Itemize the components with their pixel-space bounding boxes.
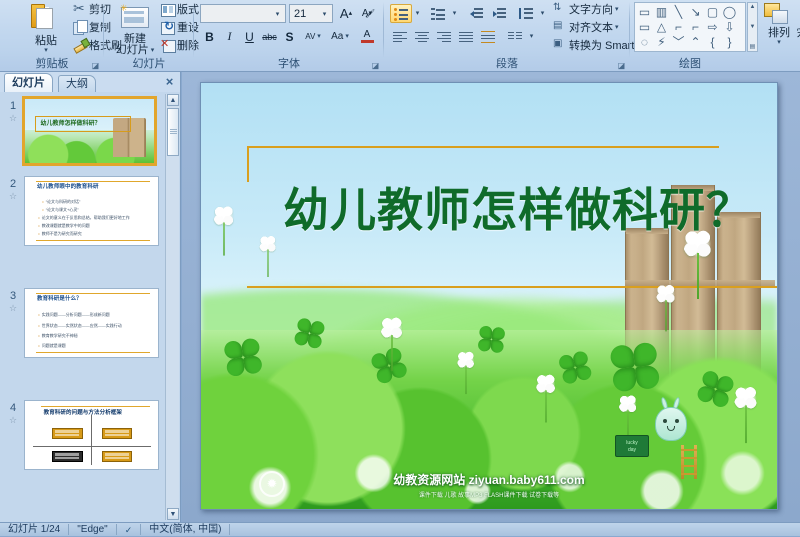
arrange-icon (764, 3, 794, 25)
shape-item-16[interactable]: { (704, 34, 721, 49)
clover-flower (213, 205, 235, 227)
bullets-chevron-down-icon: ▾ (416, 10, 420, 17)
thumb-title-text: 教育科研是什么？ (37, 294, 82, 302)
mascot-character (651, 395, 691, 447)
new-slide-icon: ✳ (120, 3, 150, 33)
align-text-chevron-down-icon[interactable]: ▾ (615, 24, 619, 31)
columns-button[interactable] (504, 27, 526, 46)
ribbon-group-clipboard: 粘贴 ▾ 剪切 复制 格式刷 ◪ 剪贴板 (0, 0, 104, 72)
flower-stem (666, 300, 667, 331)
thumb-background: 幼儿教师怎样做科研？ (25, 99, 154, 163)
thumb-bullet: “论文与课文+心灵” (42, 207, 78, 213)
animation-star-icon: ☆ (4, 302, 22, 314)
lucky-day-sign: luckyday (615, 435, 649, 457)
columns-icon (508, 31, 523, 43)
shape-item-7[interactable]: △ (653, 19, 670, 34)
align-text-button[interactable]: ▤ 对齐文本 ▾ (550, 19, 622, 35)
group-label-slides: 幻灯片 (104, 55, 194, 71)
decrease-indent-button[interactable] (466, 4, 488, 23)
shapes-scroll-down-icon[interactable]: ▼ (750, 24, 756, 30)
animation-star-icon: ☆ (4, 190, 22, 202)
quadrant-box-1 (52, 428, 83, 439)
status-divider (229, 524, 230, 535)
powerpoint-window: 粘贴 ▾ 剪切 复制 格式刷 ◪ 剪贴板 ✳ 新建 (0, 0, 800, 536)
slide-title-text[interactable]: 幼儿教师怎样做科研？ (283, 184, 715, 236)
ladder-rung (681, 449, 697, 451)
shape-item-1[interactable]: ▥ (653, 4, 670, 19)
grow-font-button[interactable]: A▴ (336, 3, 356, 23)
clover-flower (457, 351, 476, 370)
quick-styles-label: 快速样式 (796, 28, 800, 39)
animation-star-icon: ☆ (4, 414, 22, 426)
tab-outline[interactable]: 大纲 (58, 75, 96, 92)
character-spacing-button[interactable]: AV ▾ (300, 27, 326, 46)
align-left-button[interactable] (390, 27, 411, 46)
shape-item-4[interactable]: ▢ (704, 4, 721, 19)
slide-editing-area[interactable]: 幼儿教师怎样做科研？ (182, 72, 800, 522)
columns-chevron-down-icon: ▾ (530, 33, 534, 40)
shapes-gallery-scrollbar[interactable]: ▲ ▼ ▤ (747, 2, 758, 52)
thumbnail-number-value: 3 (10, 290, 16, 302)
paste-icon (31, 4, 61, 34)
bullets-dropdown[interactable]: ▾ (412, 4, 423, 23)
tab-slides[interactable]: 幻灯片 (4, 73, 53, 92)
paste-label: 粘贴 (35, 36, 57, 47)
text-direction-icon: ⇅ (553, 2, 567, 16)
line-spacing-dropdown[interactable]: ▾ (537, 4, 548, 23)
strikethrough-button[interactable]: abc (260, 27, 279, 46)
quadrant-box-2 (102, 428, 133, 439)
shape-item-9[interactable]: ⌐ (687, 19, 704, 34)
flower-stem (392, 335, 394, 371)
numbering-icon (431, 7, 446, 20)
thumb-title-text: 幼儿教师眼中的教育科研 (37, 182, 99, 190)
align-right-icon (437, 31, 452, 43)
ribbon-group-font: ▾ 21 ▾ A▴ A▾ B I U abc (194, 0, 384, 72)
clover-flower (380, 316, 403, 339)
copy-icon (73, 20, 87, 34)
flower-stem (697, 253, 699, 299)
arrange-chevron-down-icon[interactable]: ▾ (777, 39, 781, 46)
quadrant-box-3 (52, 451, 83, 462)
shape-item-11[interactable]: ⇩ (721, 19, 738, 34)
font-name-combobox[interactable]: ▾ (200, 4, 286, 23)
shapes-scroll-more-icon[interactable]: ▤ (750, 43, 756, 50)
change-case-chevron-down-icon[interactable]: ▾ (345, 33, 349, 40)
text-direction-label: 文字方向 (569, 1, 613, 17)
shape-item-12[interactable]: ◌ (636, 34, 653, 49)
thumbnail-number-value: 1 (10, 100, 16, 112)
paintbrush-icon (73, 38, 87, 52)
shadow-label: S (285, 30, 293, 44)
text-direction-button[interactable]: ⇅ 文字方向 ▾ (550, 1, 622, 17)
thumbnail-number-value: 2 (10, 178, 16, 190)
title-placeholder[interactable]: 幼儿教师怎样做科研？ (247, 146, 719, 338)
font-size-value: 21 (294, 8, 319, 20)
clover-leaf (223, 337, 265, 379)
thumbnail-number-value: 4 (10, 402, 16, 414)
change-case-button[interactable]: Aa ▾ (327, 27, 353, 46)
animation-star-icon: ☆ (4, 112, 22, 124)
numbering-button[interactable] (427, 4, 449, 23)
quadrant-box-4 (102, 451, 133, 462)
shape-item-13[interactable]: ⚡ (653, 34, 670, 49)
spell-check-icon: ✓ (125, 523, 133, 537)
line-spacing-button[interactable] (515, 4, 537, 23)
group-label-paragraph: 段落 (384, 55, 630, 71)
slide-thumbnail-2[interactable]: 2 ☆ 幼儿教师眼中的教育科研 “论文与科研的对话” “论文与课文+心灵” 论文… (0, 174, 167, 248)
clover-flower (656, 284, 676, 304)
clover-flower (683, 229, 713, 259)
shape-item-2[interactable]: ╲ (670, 4, 687, 19)
ladder-rung (681, 465, 697, 467)
clover-leaf (609, 341, 662, 394)
layout-icon (161, 2, 175, 16)
theme-name[interactable]: "Edge" (69, 523, 115, 537)
slide-thumbnail-1[interactable]: 1 ☆ 幼儿教师怎样做科研？ (0, 96, 167, 170)
clover-flower (618, 394, 637, 413)
shape-item-6[interactable]: ▭ (636, 19, 653, 34)
bold-label: B (205, 30, 214, 44)
spell-check-status[interactable]: ✓ (117, 523, 141, 537)
thumbnail-canvas: 教育科研是什么？ 实践问题——分析问题——形成新问题 世界状态——实然状态——应… (24, 288, 159, 358)
thumbnail-number: 2 ☆ (4, 178, 22, 202)
change-case-label: Aa (331, 31, 343, 42)
align-left-icon (393, 31, 408, 43)
mascot-body (655, 407, 687, 441)
line-spacing-chevron-down-icon: ▾ (541, 10, 545, 17)
paste-chevron-down-icon[interactable]: ▾ (44, 47, 48, 54)
underline-label: U (245, 30, 254, 44)
thumbnail-scrollbar[interactable]: ▲ ▼ (165, 94, 179, 520)
smartart-icon: ▣ (553, 38, 567, 52)
ribbon-group-drawing: ▭▥╲↘▢◯▭△⌐⌐⇨⇩◌⚡﹀⌃{} ▲ ▼ ▤ 排列 ▾ 快速样式 绘图 (630, 0, 800, 72)
char-spacing-label: AV (305, 32, 315, 41)
justify-icon (459, 31, 474, 43)
clover-flower (734, 386, 759, 411)
text-direction-chevron-down-icon[interactable]: ▾ (615, 6, 619, 13)
thumbnail-canvas: 幼儿教师怎样做科研？ (22, 96, 157, 166)
thumb-content: 教育科研的问题与方法分析框架 (25, 401, 158, 469)
watermark: 幼教资源网站 ziyuan.baby611.com 课件下载 儿歌 故事MP3 … (201, 471, 777, 499)
quadrant-diagram (33, 415, 151, 465)
underline-button[interactable]: U (240, 27, 259, 46)
shape-item-3[interactable]: ↘ (687, 4, 704, 19)
watermark-secondary: 课件下载 儿歌 故事MP3 FLASH课件下载 试卷下载等 (201, 490, 777, 499)
align-text-label: 对齐文本 (569, 19, 613, 35)
italic-label: I (228, 29, 232, 44)
shape-item-17[interactable]: } (721, 34, 738, 49)
font-color-button[interactable]: A (354, 27, 380, 46)
group-label-font: 字体 (194, 55, 384, 71)
thumb-rule-bottom (36, 240, 150, 241)
thumb-bullet: 教改课题就是教学中的问题 (38, 223, 89, 229)
clover-leaf (477, 325, 506, 354)
thumb-rule-top (41, 406, 150, 407)
clover-flower (259, 235, 277, 253)
bullets-button[interactable] (390, 4, 412, 23)
italic-button[interactable]: I (220, 27, 239, 46)
shape-item-8[interactable]: ⌐ (670, 19, 687, 34)
shapes-gallery[interactable]: ▭▥╲↘▢◯▭△⌐⌐⇨⇩◌⚡﹀⌃{} (634, 2, 746, 52)
distributed-icon (481, 31, 496, 43)
line-spacing-icon (519, 7, 534, 20)
font-size-chevron-down-icon[interactable]: ▾ (319, 10, 330, 18)
numbering-dropdown[interactable]: ▾ (449, 4, 460, 23)
sign-text: luckyday (626, 440, 637, 453)
close-icon[interactable]: × (162, 74, 177, 89)
quadrant-horizontal-axis (33, 446, 151, 447)
thumb-bullet: 问题就是课题 (38, 343, 65, 349)
font-color-swatch (361, 40, 374, 43)
font-color-label: A (364, 30, 371, 40)
thumb-bullet: 实践问题——分析问题——形成新问题 (38, 312, 109, 318)
shape-item-0[interactable]: ▭ (636, 4, 653, 19)
align-right-button[interactable] (434, 27, 455, 46)
quick-styles-button[interactable]: 快速样式 (796, 2, 800, 54)
reset-icon (161, 20, 175, 34)
thumb-content: 教育科研是什么？ 实践问题——分析问题——形成新问题 世界状态——实然状态——应… (25, 289, 158, 357)
flower-stem (224, 222, 225, 255)
mascot-eye (675, 419, 679, 423)
distributed-button[interactable] (478, 27, 499, 46)
bold-button[interactable]: B (200, 27, 219, 46)
numbering-chevron-down-icon: ▾ (453, 10, 457, 17)
clear-formatting-icon: 🖌 (365, 9, 375, 18)
group-label-drawing: 绘图 (634, 55, 746, 71)
mascot-eye (663, 419, 667, 423)
shape-item-14[interactable]: ﹀ (670, 34, 687, 49)
thumb-content: 幼儿教师眼中的教育科研 “论文与科研的对话” “论文与课文+心灵” 论文的意义在… (25, 177, 158, 245)
thumbnail-number: 3 ☆ (4, 290, 22, 314)
flower-stem (546, 390, 547, 422)
columns-dropdown[interactable]: ▾ (526, 27, 537, 46)
thumb-bullet: “论文与科研的对话” (42, 199, 80, 205)
new-slide-button[interactable]: ✳ 新建 幻灯片 ▾ (112, 2, 158, 54)
slide-thumbnail-3[interactable]: 3 ☆ 教育科研是什么？ 实践问题——分析问题——形成新问题 世界状态——实然状… (0, 286, 167, 360)
ladder-rung (681, 457, 697, 459)
thumbnail-canvas: 幼儿教师眼中的教育科研 “论文与科研的对话” “论文与课文+心灵” 论文的意义在… (24, 176, 159, 246)
slides-outline-pane: 幻灯片 大纲 × 1 ☆ 幼儿教师怎样做科研？ (0, 72, 181, 522)
increase-indent-button[interactable] (489, 4, 511, 23)
paste-button[interactable]: 粘贴 ▾ (24, 3, 68, 53)
shape-item-10[interactable]: ⇨ (704, 19, 721, 34)
scrollbar-thumb[interactable] (167, 108, 179, 156)
thumb-bullet: 教师不是为研究而研究 (38, 231, 81, 237)
clover-flower (536, 374, 557, 395)
quadrant-vertical-axis (91, 415, 92, 465)
arrange-button[interactable]: 排列 ▾ (762, 2, 796, 54)
ribbon: 粘贴 ▾ 剪切 复制 格式刷 ◪ 剪贴板 ✳ 新建 (0, 0, 800, 72)
align-text-icon: ▤ (553, 20, 567, 34)
thumbnail-number: 1 ☆ (4, 100, 22, 124)
tab-slides-label: 幻灯片 (12, 77, 45, 89)
delete-icon (161, 38, 175, 52)
thumb-rule-bottom (36, 352, 150, 353)
justify-button[interactable] (456, 27, 477, 46)
flower-stem (746, 405, 748, 443)
flower-stem (268, 249, 269, 277)
ribbon-group-slides: ✳ 新建 幻灯片 ▾ 版式 ▾ 重设 删除 幻灯片 (104, 0, 194, 72)
current-slide[interactable]: 幼儿教师怎样做科研？ (200, 82, 778, 510)
language-indicator[interactable]: 中文(简体, 中国) (141, 523, 229, 537)
scissors-icon (73, 2, 87, 16)
shapes-scroll-up-icon[interactable]: ▲ (750, 4, 756, 10)
status-bar: 幻灯片 1/24 "Edge" ✓ 中文(简体, 中国) (0, 522, 800, 536)
pane-tabs: 幻灯片 大纲 × (0, 72, 181, 92)
thumbnail-number: 4 ☆ (4, 402, 22, 426)
bullets-icon (394, 7, 409, 20)
thumbnail-canvas: 教育科研的问题与方法分析框架 (24, 400, 159, 470)
decrease-indent-icon (470, 7, 485, 20)
shape-item-5[interactable]: ◯ (721, 4, 738, 19)
font-size-combobox[interactable]: 21 ▾ (289, 4, 333, 23)
thumb-title-text: 幼儿教师怎样做科研？ (40, 118, 100, 127)
new-slide-chevron-down-icon[interactable]: ▾ (151, 47, 155, 54)
watermark-primary: 幼教资源网站 ziyuan.baby611.com (201, 471, 777, 488)
group-label-clipboard: 剪贴板 (0, 55, 104, 71)
slide-thumbnail-4[interactable]: 4 ☆ 教育科研的问题与方法分析框架 (0, 398, 167, 472)
strikethrough-label: abc (262, 32, 277, 42)
flower-stem (466, 366, 467, 395)
slide-counter: 幻灯片 1/24 (0, 523, 68, 537)
font-name-chevron-down-icon[interactable]: ▾ (272, 10, 283, 18)
align-center-icon (415, 31, 430, 43)
tab-outline-label: 大纲 (66, 78, 88, 90)
grow-font-label: A (340, 6, 349, 21)
align-center-button[interactable] (412, 27, 433, 46)
clover-leaf (293, 317, 327, 351)
arrange-label: 排列 (768, 28, 790, 39)
text-shadow-button[interactable]: S (280, 27, 299, 46)
char-spacing-chevron-down-icon[interactable]: ▾ (317, 33, 321, 40)
thumb-bullet: 世界状态——实然状态——应然——实践行动 (38, 323, 121, 329)
slide-thumbnail-list[interactable]: 1 ☆ 幼儿教师怎样做科研？ 2 ☆ (0, 92, 180, 522)
clear-formatting-button[interactable]: 🖌 (359, 2, 381, 24)
increase-indent-icon (493, 7, 508, 20)
scroll-up-icon[interactable]: ▲ (167, 94, 179, 106)
thumb-bullet: 教育教学研究不神秘 (38, 333, 77, 339)
scroll-down-icon[interactable]: ▼ (167, 508, 179, 520)
ribbon-group-paragraph: ▾ ▾ ▾ (384, 0, 630, 72)
shape-item-15[interactable]: ⌃ (687, 34, 704, 49)
thumb-bullet: 论文的意义在于反思和总结，帮助我们更好地工作 (38, 215, 129, 221)
